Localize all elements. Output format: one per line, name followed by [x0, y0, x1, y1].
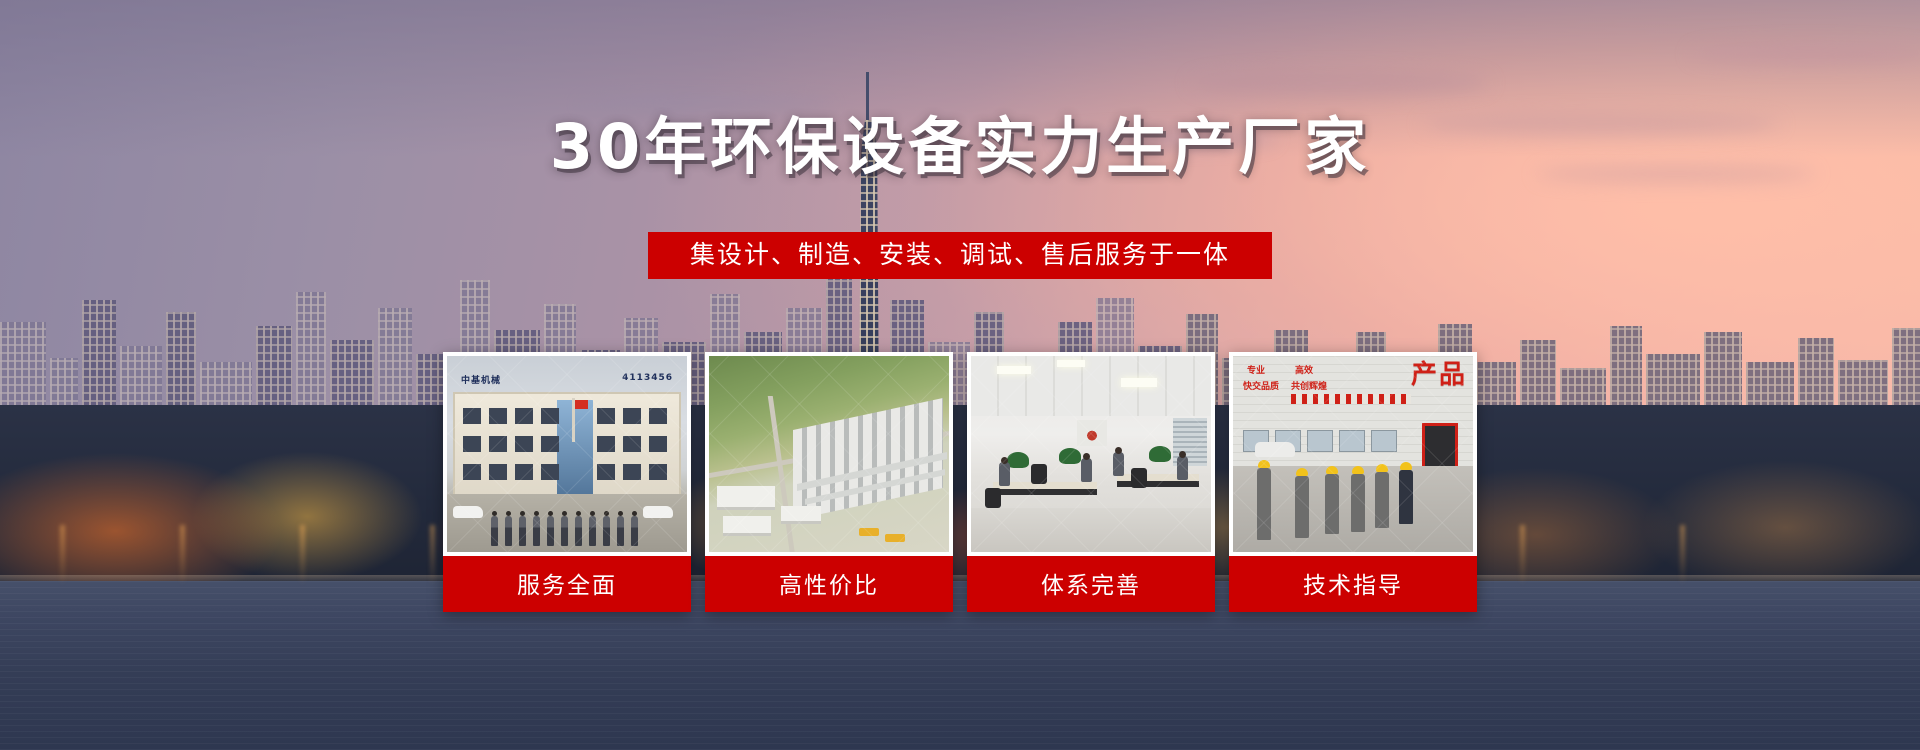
water-reflection — [430, 525, 435, 585]
feature-card[interactable]: 高性价比 — [705, 352, 953, 612]
watermark-overlay — [971, 356, 1211, 552]
feature-card[interactable]: 产品 专业 高效 快交品质 共创辉煌 — [1229, 352, 1477, 612]
card-caption: 服务全面 — [443, 556, 691, 612]
card-image-office-building: 中基机械 4113456 — [447, 356, 687, 552]
watermark-overlay — [709, 356, 949, 552]
water-reflection — [1520, 525, 1525, 585]
cloud-5 — [1690, 44, 1920, 64]
feature-card[interactable]: 中基机械 4113456 — [443, 352, 691, 612]
card-caption: 技术指导 — [1229, 556, 1477, 612]
water-reflection — [180, 525, 185, 585]
watermark-overlay — [447, 356, 687, 552]
feature-card[interactable]: 体系完善 — [967, 352, 1215, 612]
card-image-office-interior — [971, 356, 1211, 552]
card-image-factory-workers: 产品 专业 高效 快交品质 共创辉煌 — [1233, 356, 1473, 552]
cloud-1 — [1190, 70, 1490, 96]
water-reflection — [1680, 525, 1685, 585]
hero-banner: 30年环保设备实力生产厂家 集设计、制造、安装、调试、售后服务于一体 中基机械 … — [0, 0, 1920, 750]
water-reflection — [300, 525, 305, 585]
card-caption: 体系完善 — [967, 556, 1215, 612]
banner-subtitle-bar: 集设计、制造、安装、调试、售后服务于一体 — [648, 232, 1272, 279]
water-reflection — [60, 525, 65, 585]
watermark-overlay — [1233, 356, 1473, 552]
banner-subtitle-wrap: 集设计、制造、安装、调试、售后服务于一体 — [0, 232, 1920, 279]
card-image-aerial-plant — [709, 356, 949, 552]
card-caption: 高性价比 — [705, 556, 953, 612]
feature-card-list: 中基机械 4113456 — [443, 352, 1477, 612]
banner-headline: 30年环保设备实力生产厂家 — [0, 96, 1920, 186]
